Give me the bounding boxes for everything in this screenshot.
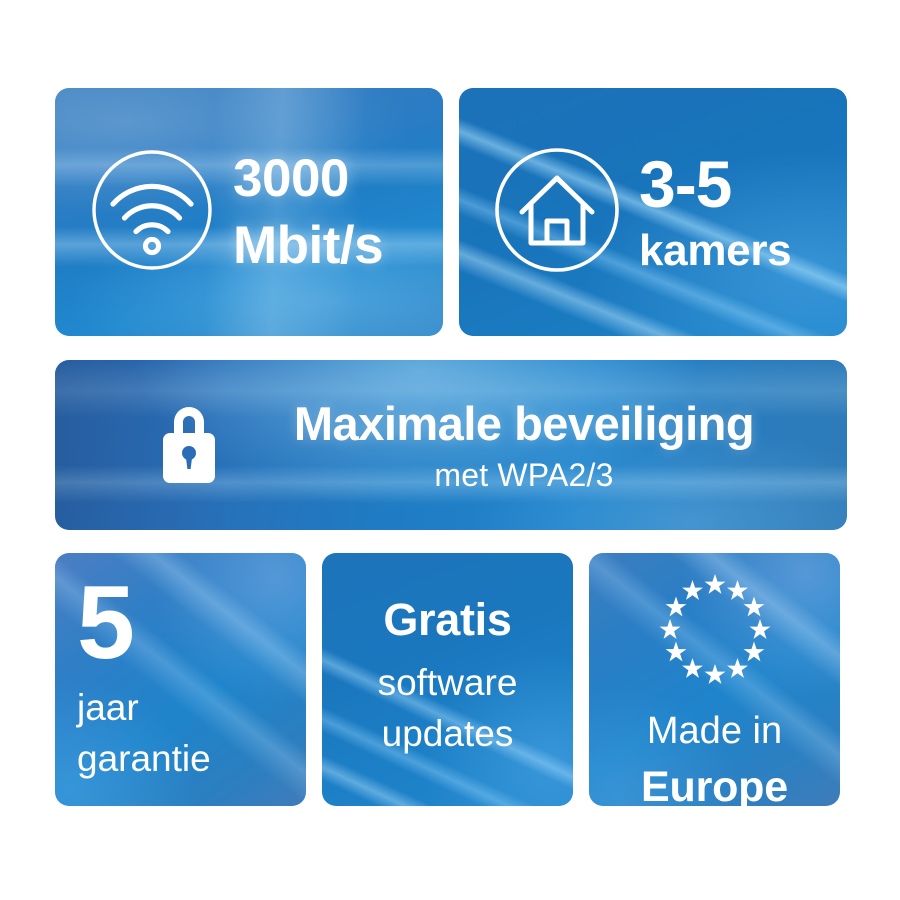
lock-icon: [151, 395, 227, 496]
updates-line-updates: updates: [382, 715, 514, 752]
updates-headline: Gratis: [383, 597, 511, 642]
europe-label: Europe: [641, 766, 788, 806]
eu-stars-icon: [647, 567, 783, 698]
feature-badge-board: 3000 Mbit/s 3-5 kamers: [0, 0, 900, 900]
feature-card-rooms: 3-5 kamers: [459, 88, 847, 336]
feature-card-updates: Gratis software updates: [322, 553, 573, 806]
feature-card-warranty: 5 jaar garantie: [55, 553, 306, 806]
rooms-text-block: 3-5 kamers: [639, 151, 791, 273]
feature-banner-security: Maximale beveiliging met WPA2/3: [55, 360, 847, 530]
speed-unit: Mbit/s: [233, 219, 383, 272]
feature-card-made-in-europe: Made in Europe: [589, 553, 840, 806]
warranty-years-number: 5: [77, 576, 133, 672]
security-subtitle: met WPA2/3: [434, 459, 613, 491]
updates-line-software: software: [378, 664, 518, 701]
warranty-unit-label: jaar: [77, 689, 139, 726]
made-in-label: Made in: [647, 712, 782, 750]
speed-value: 3000: [233, 152, 383, 205]
rooms-label: kamers: [639, 229, 791, 273]
feature-card-speed: 3000 Mbit/s: [55, 88, 443, 336]
speed-text-block: 3000 Mbit/s: [233, 152, 383, 272]
rooms-range: 3-5: [639, 151, 791, 217]
security-title: Maximale beveiliging: [294, 400, 754, 447]
warranty-label: garantie: [77, 740, 211, 777]
security-text-block: Maximale beveiliging met WPA2/3: [245, 400, 803, 491]
wifi-icon: [89, 147, 215, 278]
house-icon: [489, 142, 625, 283]
